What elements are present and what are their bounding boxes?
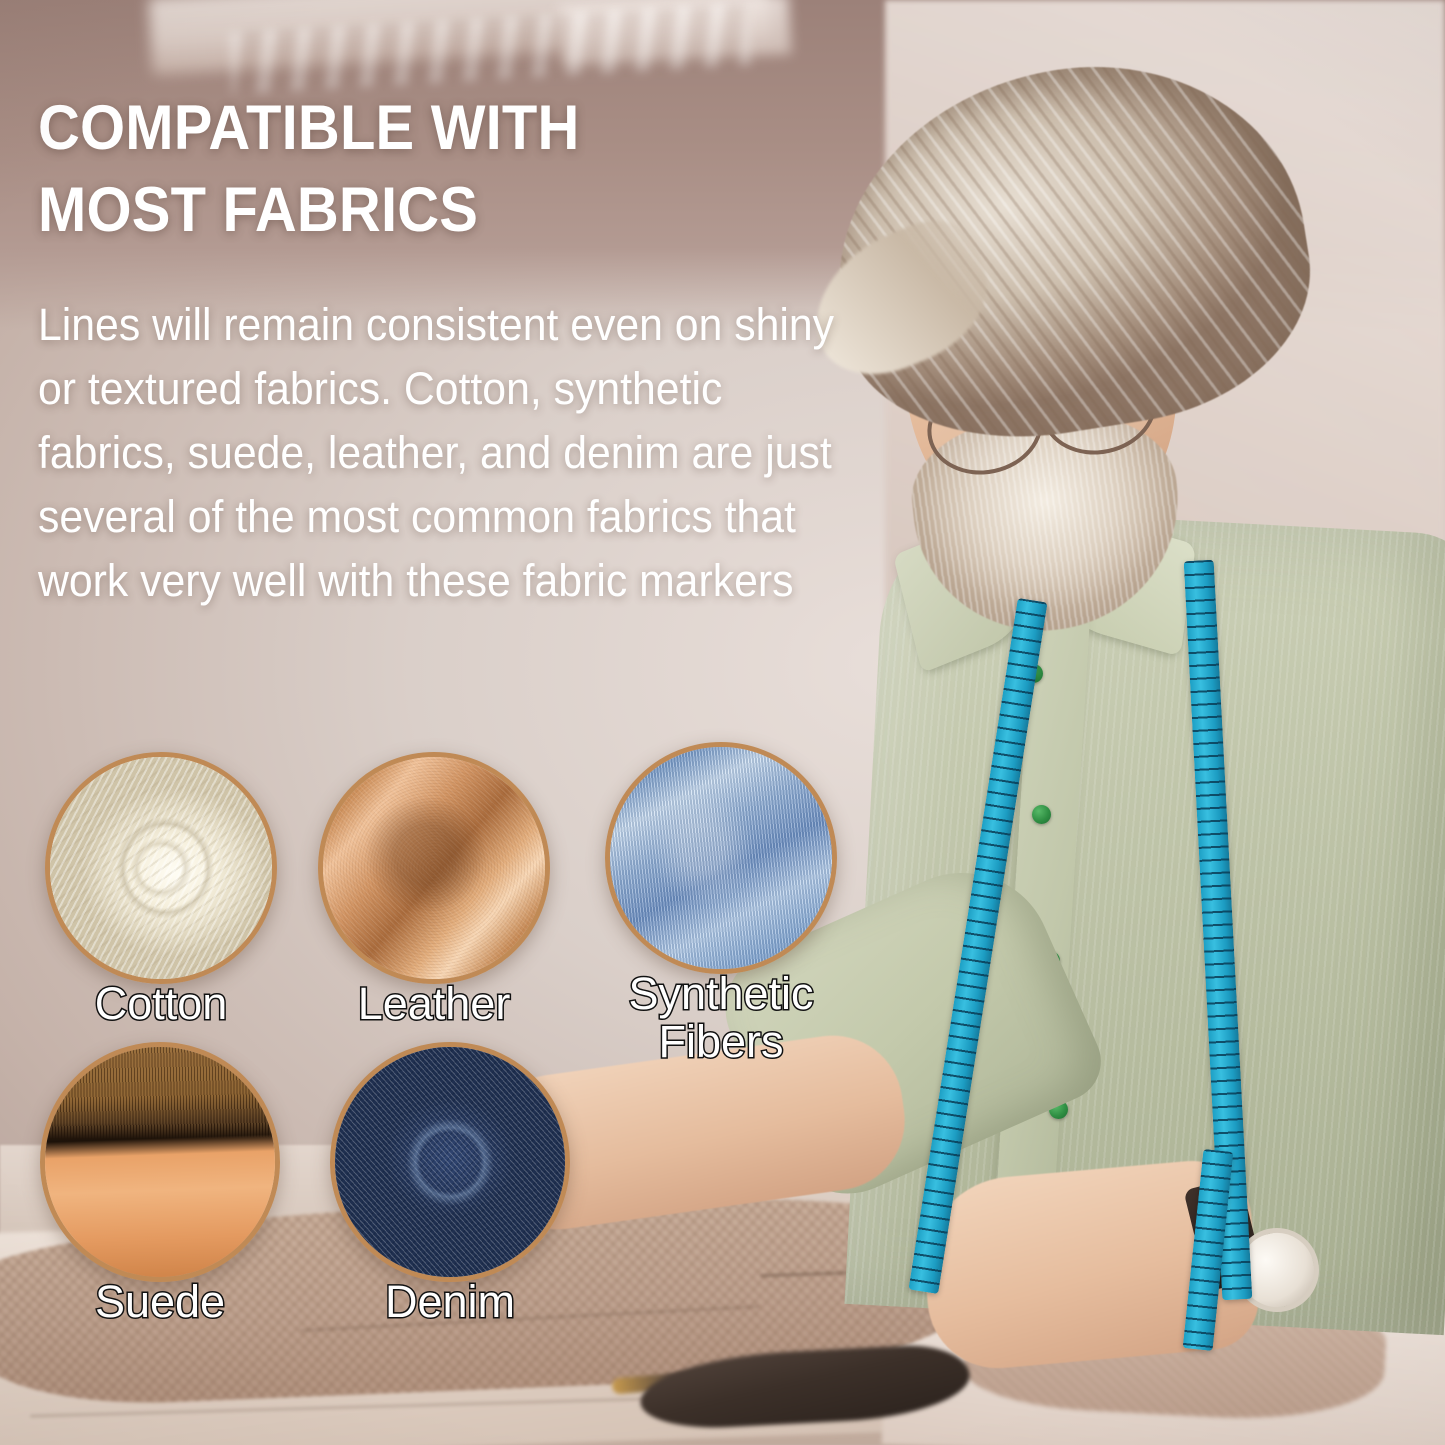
swatch-denim-label: Denim [385,1278,515,1326]
swatch-denim-image [330,1042,570,1282]
swatch-suede-image [40,1042,280,1282]
swatch-cotton-image [45,752,277,984]
denim-texture [335,1047,565,1277]
product-feature-image: COMPATIBLE WITH MOST FABRICS Lines will … [0,0,1445,1445]
swatch-synthetic-image [605,742,837,974]
fabric-swatch-group: Cotton Leather Synthetic Fibers [0,0,880,1400]
swatch-suede-label: Suede [95,1278,225,1326]
swatch-synthetic[interactable]: Synthetic Fibers [605,742,837,974]
swatch-suede[interactable]: Suede [40,1042,280,1282]
swatch-label-line: Fibers [628,1018,813,1066]
cotton-texture [50,757,272,979]
synthetic-texture [610,747,832,969]
swatch-label-line: Suede [95,1278,225,1326]
swatch-cotton[interactable]: Cotton [45,752,277,984]
swatch-denim[interactable]: Denim [330,1042,570,1282]
swatch-label-line: Cotton [95,980,228,1028]
tailor-photo [815,0,1445,1445]
leather-texture [323,757,545,979]
swatch-label-line: Synthetic [628,970,813,1018]
swatch-synthetic-label: Synthetic Fibers [628,970,813,1065]
swatch-label-line: Leather [358,980,511,1028]
swatch-cotton-label: Cotton [95,980,228,1028]
shirt-button [1032,805,1051,824]
head [845,60,1265,530]
swatch-leather[interactable]: Leather [318,752,550,984]
swatch-label-line: Denim [385,1278,515,1326]
suede-texture [45,1047,275,1277]
swatch-leather-image [318,752,550,984]
swatch-leather-label: Leather [358,980,511,1028]
